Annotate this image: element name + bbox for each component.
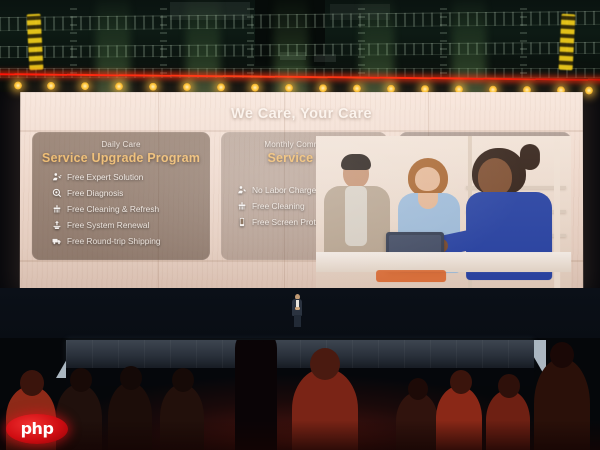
truss-column [247,8,254,74]
truss-column [160,8,167,74]
spotlight [47,82,55,90]
audience-area [0,340,600,450]
feature-label: Free Diagnosis [67,188,123,198]
panel-headline: Service Upgrade Program [32,151,210,165]
panel-kicker: Daily Care [32,140,210,149]
truss-column [440,8,447,74]
person-head [478,158,512,196]
magnifier-diagnosis-icon [52,188,62,198]
audience-head [172,368,194,392]
person-shirt [345,186,367,246]
truss-column [70,8,77,74]
led-banner-right [559,14,576,71]
presenter-figure [291,294,303,328]
spotlight [149,83,157,91]
led-presentation-screen: We Care, Your Care Daily Care Service Up… [20,92,583,290]
audience-head [120,366,142,390]
spotlight [115,82,123,90]
spotlight [319,84,327,92]
keynote-stage-photo: We Care, Your Care Daily Care Service Up… [0,0,600,450]
brush-cleaning-icon [52,204,62,214]
audience-head [70,368,92,392]
audience-head [408,378,428,400]
presenter-legs [294,315,301,327]
led-banner-left [27,14,44,71]
feature-label: Free Expert Solution [67,172,143,182]
audience-head [450,370,472,394]
feature-row: Free Expert Solution [52,172,210,182]
person-hair [341,154,371,170]
feature-row: Free System Renewal [52,220,210,230]
slide-lifestyle-photo [316,136,571,290]
feature-label: Free Cleaning & Refresh [67,204,159,214]
panel-daily-care: Daily Care Service Upgrade Program Free … [32,132,210,260]
spotlight [14,82,22,90]
feature-row: Free Round-trip Shipping [52,236,210,246]
seat-row-shadow [0,420,600,450]
audience-head [498,374,520,398]
spotlight [585,86,593,94]
feature-label: Free System Renewal [67,220,149,230]
audience-head [550,342,574,368]
spotlight [183,83,191,91]
truck-shipping-icon [52,236,62,246]
truss-column [520,8,527,74]
spotlight [217,83,225,91]
spotlight [285,84,293,92]
feature-label: Free Round-trip Shipping [67,236,161,246]
audience-head [20,370,44,396]
audience-head [310,348,340,380]
slide-title: We Care, Your Care [20,106,583,122]
spotlight [251,84,259,92]
screen-protector-icon [237,217,247,227]
php-watermark: php [6,414,68,444]
spotlight [81,82,89,90]
counter-surface [316,252,571,272]
watermark-label: php [21,421,54,437]
orange-item-on-counter [376,270,446,282]
person-face [415,167,440,191]
system-renewal-icon [52,220,62,230]
feature-label: No Labor Charges [252,185,320,195]
brush-cleaning-icon [237,201,247,211]
labor-person-icon [237,185,247,195]
presenter-hands [295,307,300,310]
feature-row: Free Cleaning & Refresh [52,204,210,214]
person-hair-bun [520,144,540,170]
expert-person-icon [52,172,62,182]
feature-row: Free Diagnosis [52,188,210,198]
feature-label: Free Cleaning [252,201,305,211]
